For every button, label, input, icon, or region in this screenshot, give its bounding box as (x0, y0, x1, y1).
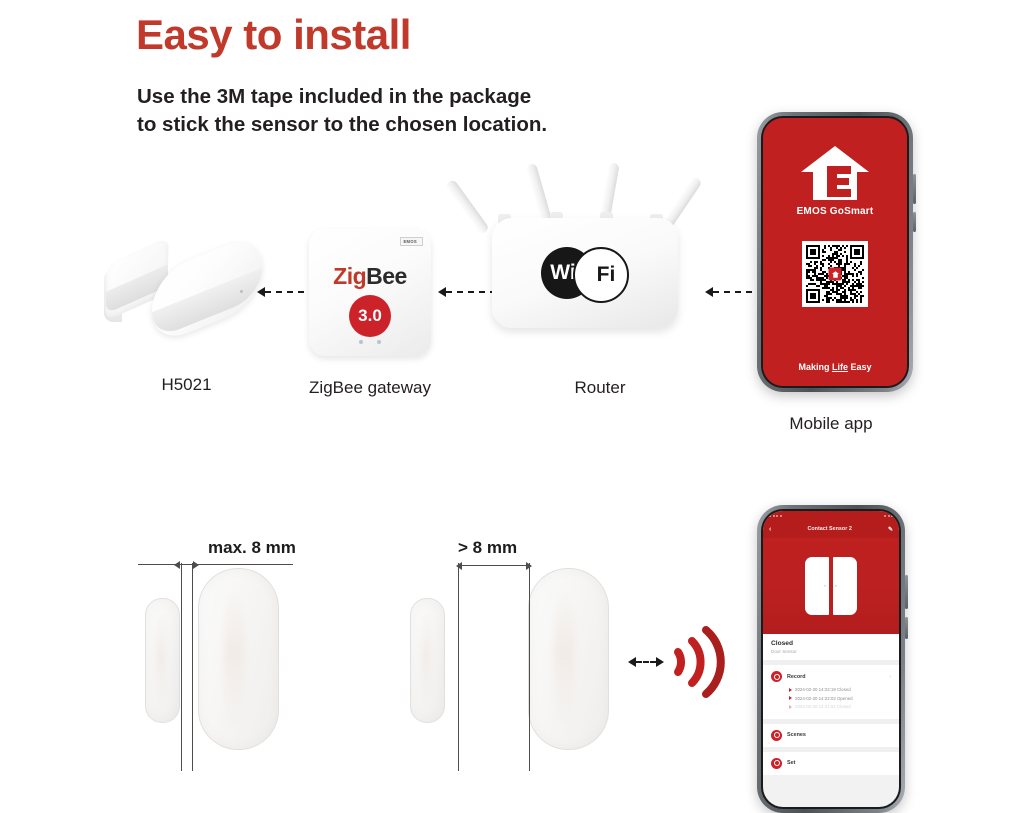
promo-phone-screen: EMOS GoSmart Making Life Easy (763, 118, 907, 386)
door-sensor-icon (805, 557, 857, 615)
list-item: 2024-02-20 14:21:51 Closed (789, 704, 891, 709)
magnet-piece (145, 598, 180, 723)
wordmark-bee: Bee (366, 263, 407, 289)
tagline-underlined: Life (832, 362, 848, 372)
promo-phone-body: EMOS GoSmart Making Life Easy (761, 116, 909, 388)
router-illustration: Wi Fi (470, 162, 698, 352)
sensor-led-dot (240, 290, 243, 293)
wordmark-zig: Zig (333, 263, 366, 289)
sensor-piece (528, 568, 609, 750)
magnet-piece (410, 598, 445, 723)
set-row[interactable]: Set (771, 758, 891, 769)
phone-volume-button[interactable] (905, 617, 908, 639)
app-header-title: Contact Sensor 2 (807, 526, 851, 532)
app-hero-panel (763, 538, 899, 634)
dimension-arrow-gap (174, 559, 199, 570)
promo-screen-content: EMOS GoSmart Making Life Easy (763, 118, 907, 386)
record-card[interactable]: Record › 2024-02-20 14:22:19 Closed 2024… (763, 665, 899, 719)
emos-badge: EMOS (400, 237, 423, 246)
phone-power-button[interactable] (913, 174, 916, 204)
router-antenna-1 (445, 179, 490, 236)
app-phone-body: ‹ Contact Sensor 2 ✎ Closed Door Sensor (761, 509, 901, 809)
app-header: ‹ Contact Sensor 2 ✎ (763, 520, 899, 538)
wifi-logo: Wi Fi (541, 247, 629, 299)
tagline-part-1: Making (798, 362, 832, 372)
phone-volume-button[interactable] (913, 212, 916, 232)
pencil-icon[interactable]: ✎ (888, 526, 893, 533)
scenes-label: Scenes (787, 732, 891, 738)
dimension-arrow-gap (456, 560, 532, 571)
record-entry-list: 2024-02-20 14:22:19 Closed 2024-02-20 14… (789, 687, 891, 709)
record-row[interactable]: Record › (771, 671, 891, 682)
list-item: 2024-02-20 14:22:02 Opened (789, 696, 891, 701)
chevron-right-icon[interactable]: › (889, 674, 891, 680)
gap-diagram-over: > 8 mm (400, 530, 620, 780)
zigbee-version-badge: 3.0 (349, 295, 391, 337)
router-body: Wi Fi (492, 218, 678, 328)
tagline-part-2: Easy (848, 362, 872, 372)
dimension-extension-line (138, 564, 293, 565)
arrow-head-left (705, 287, 713, 297)
guide-line-right (529, 563, 530, 771)
sensor-status: Closed (771, 640, 891, 647)
guide-line-left (458, 563, 459, 771)
connector-arrow-signal (628, 656, 664, 668)
dim-arrow-head-right (526, 562, 532, 570)
dim-arrow-bar (180, 564, 193, 565)
zigbee-wordmark: ZigBee (309, 265, 431, 288)
bullet-icon (789, 688, 792, 692)
device-label-router: Router (510, 378, 690, 398)
zigbee-gateway-illustration: EMOS ZigBee 3.0 (309, 229, 431, 356)
dim-arrow-bar (462, 565, 526, 566)
guide-line-right (192, 563, 193, 771)
router-antenna-2 (525, 163, 553, 226)
arrow-dash (713, 291, 763, 293)
app-phone-screen: ‹ Contact Sensor 2 ✎ Closed Door Sensor (763, 511, 899, 807)
sensor-type-label: Door Sensor (771, 649, 891, 654)
status-bar-left-icons (769, 515, 782, 517)
set-card[interactable]: Set (763, 752, 899, 775)
status-bar-right-icons (884, 515, 893, 517)
device-label-mobile: Mobile app (741, 414, 921, 434)
record-icon (771, 671, 782, 682)
qr-code (802, 241, 868, 307)
wireless-signal-icon (672, 620, 736, 704)
settings-icon (771, 758, 782, 769)
arrow-head-left (628, 657, 636, 667)
record-entry-text: 2024-02-20 14:21:51 Closed (795, 704, 851, 709)
wifi-logo-right-circle: Fi (573, 247, 629, 303)
arrow-head-left (438, 287, 446, 297)
wifi-text-fi: Fi (597, 263, 616, 287)
app-card-list: Closed Door Sensor Record › 2024-02-20 1… (763, 634, 899, 775)
arrow-dash (636, 661, 656, 663)
emos-gosmart-brand: EMOS GoSmart (797, 206, 874, 217)
h5021-sensor-illustration (104, 243, 269, 353)
bullet-icon (789, 696, 792, 700)
gap-label-over: > 8 mm (458, 538, 517, 558)
arrow-head-left (257, 287, 265, 297)
arrow-head-right (656, 657, 664, 667)
app-phone: ‹ Contact Sensor 2 ✎ Closed Door Sensor (757, 505, 905, 813)
list-item: 2024-02-20 14:22:19 Closed (789, 687, 891, 692)
dim-arrow-head-right (193, 561, 199, 569)
emos-house-logo-icon (799, 144, 871, 202)
device-label-gateway: ZigBee gateway (280, 378, 460, 398)
qr-house-glyph (831, 270, 839, 278)
page-subtitle: Use the 3M tape included in the package … (137, 83, 547, 140)
qr-center-logo-icon (829, 268, 842, 281)
device-label-sensor: H5021 (104, 375, 269, 395)
gap-diagram-max: max. 8 mm (130, 530, 340, 780)
scene-icon (771, 730, 782, 741)
promo-tagline: Making Life Easy (763, 362, 907, 372)
status-bar (763, 511, 899, 520)
scenes-row[interactable]: Scenes (771, 730, 891, 741)
back-chevron-icon[interactable]: ‹ (769, 526, 771, 533)
gateway-led-1 (359, 340, 363, 344)
record-label: Record (787, 674, 884, 680)
record-entry-text: 2024-02-20 14:22:02 Opened (795, 696, 853, 701)
guide-line-left (181, 563, 182, 771)
gateway-led-2 (377, 340, 381, 344)
arrow-dash (265, 291, 315, 293)
set-label: Set (787, 760, 891, 766)
status-card: Closed Door Sensor (763, 634, 899, 660)
scenes-card[interactable]: Scenes (763, 724, 899, 747)
bullet-icon (789, 705, 792, 709)
wifi-text-wi: Wi (550, 261, 575, 285)
record-entry-text: 2024-02-20 14:22:19 Closed (795, 687, 851, 692)
promo-phone: EMOS GoSmart Making Life Easy (757, 112, 913, 392)
phone-power-button[interactable] (905, 575, 908, 609)
page-title: Easy to install (136, 14, 411, 56)
gap-label-max: max. 8 mm (208, 538, 296, 558)
sensor-piece (198, 568, 279, 750)
